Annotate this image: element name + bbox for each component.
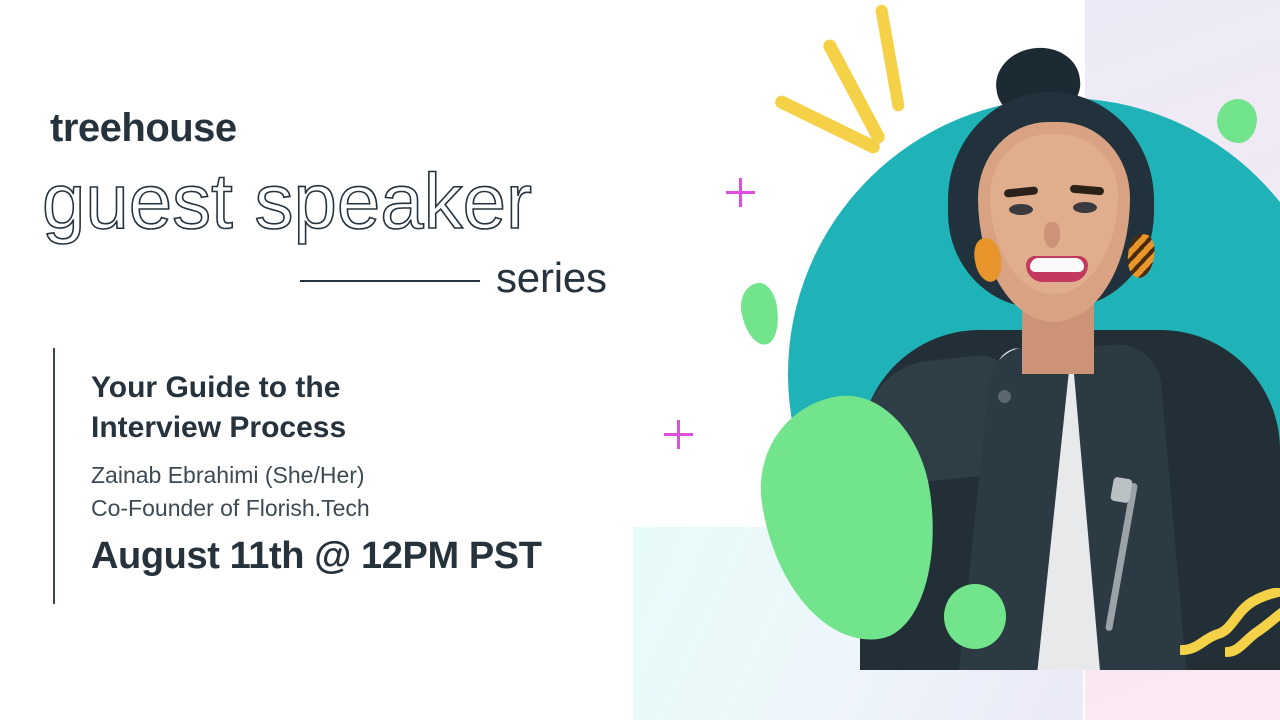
portrait-teeth	[1030, 258, 1084, 272]
portrait-nose	[1044, 222, 1060, 248]
portrait-eye-right	[1073, 202, 1097, 213]
series-row: series	[300, 252, 625, 304]
plus-mark-icon	[726, 178, 755, 207]
series-divider	[300, 280, 480, 282]
speaker-name: Zainab Ebrahimi (She/Her)	[91, 459, 551, 492]
yellow-squiggle-icon	[1225, 600, 1280, 660]
speaker-role: Co-Founder of Florish.Tech	[91, 492, 551, 525]
brand-wordmark: treehouse	[50, 108, 237, 148]
green-blob-small-icon	[737, 280, 783, 347]
vertical-rule	[53, 348, 55, 604]
portrait-eye-left	[1009, 204, 1033, 215]
talk-title-line-2: Interview Process	[91, 408, 521, 448]
portrait-jacket-stud	[998, 390, 1011, 403]
headline-outline: guest speaker	[42, 162, 532, 240]
portrait-mouth	[1026, 256, 1088, 282]
series-label: series	[496, 257, 607, 299]
speaker-credits: Zainab Ebrahimi (She/Her) Co-Founder of …	[91, 459, 551, 524]
plus-mark-icon	[664, 420, 693, 449]
talk-title-line-1: Your Guide to the	[91, 368, 521, 408]
talk-title: Your Guide to the Interview Process	[91, 368, 521, 447]
promo-slide: treehouse guest speaker series Your Guid…	[0, 0, 1280, 720]
green-circle-bottom-icon	[944, 584, 1006, 649]
event-datetime: August 11th @ 12PM PST	[91, 536, 542, 578]
